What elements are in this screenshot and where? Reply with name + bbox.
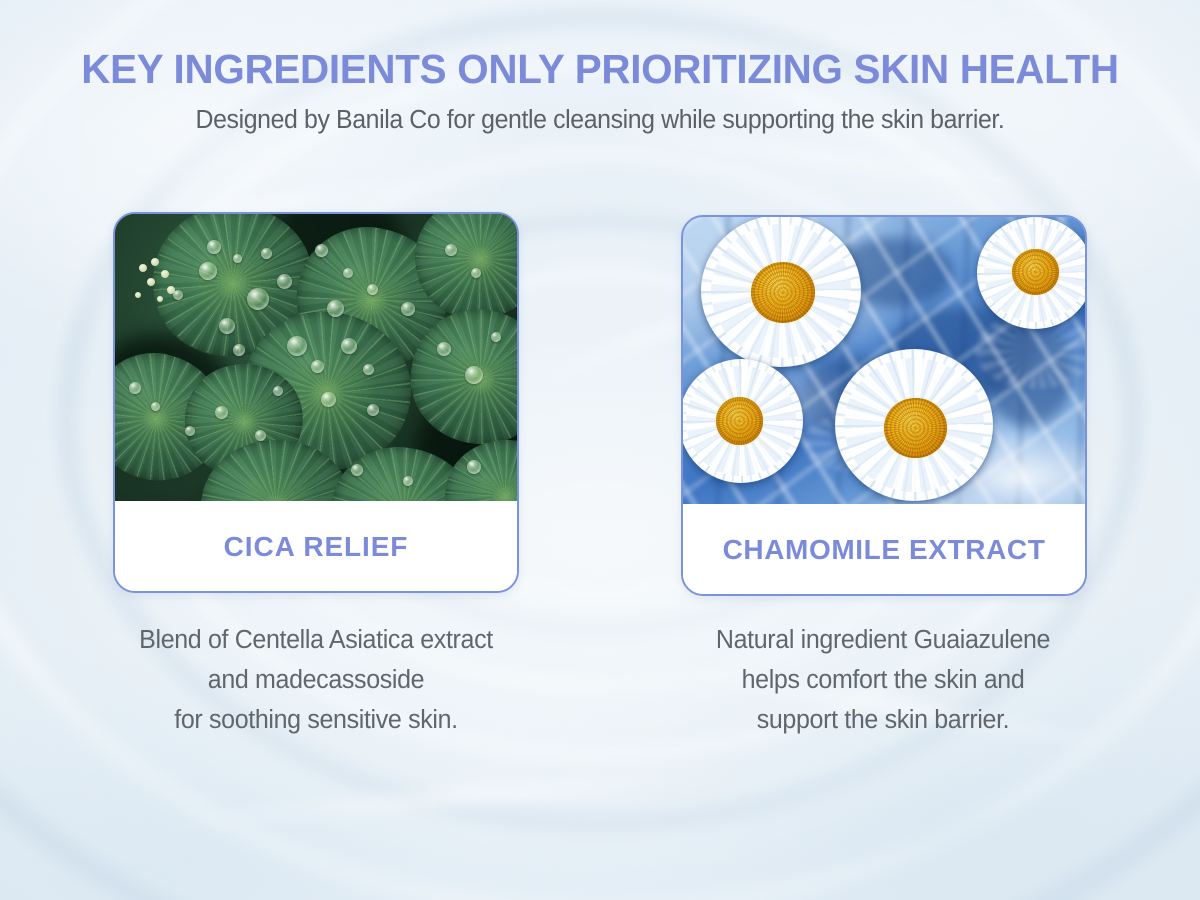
cica-relief-label-area: CICA RELIEF [115, 501, 517, 593]
card-label: CICA RELIEF [224, 531, 409, 563]
chamomile-water-illustration [683, 217, 1085, 504]
centella-leaves-illustration [115, 214, 517, 501]
ingredient-card-chamomile-extract[interactable]: CHAMOMILE EXTRACT [681, 215, 1087, 596]
caption-cica-relief: Blend of Centella Asiatica extract and m… [61, 620, 571, 740]
page-subtitle: Designed by Banila Co for gentle cleansi… [15, 106, 1185, 135]
chamomile-flower [977, 217, 1085, 329]
ingredient-highlight-banner: KEY INGREDIENTS ONLY PRIORITIZING SKIN H… [0, 0, 1200, 900]
page-title: KEY INGREDIENTS ONLY PRIORITIZING SKIN H… [9, 46, 1191, 93]
caption-line: support the skin barrier. [633, 700, 1133, 740]
chamomile-flower [683, 359, 803, 483]
banner-header: KEY INGREDIENTS ONLY PRIORITIZING SKIN H… [0, 0, 1200, 135]
ingredient-card-cica-relief[interactable]: CICA RELIEF [113, 212, 519, 593]
caption-line: Blend of Centella Asiatica extract [61, 620, 571, 660]
caption-chamomile-extract: Natural ingredient Guaiazulene helps com… [633, 620, 1133, 740]
caption-line: helps comfort the skin and [633, 660, 1133, 700]
caption-line: for soothing sensitive skin. [61, 700, 571, 740]
chamomile-extract-label-area: CHAMOMILE EXTRACT [683, 504, 1085, 596]
chamomile-extract-image [683, 217, 1085, 504]
ingredient-card-row: CICA RELIEF [0, 212, 1200, 594]
chamomile-flower [835, 349, 993, 501]
chamomile-flower [701, 217, 861, 367]
caption-line: and madecassoside [61, 660, 571, 700]
card-label: CHAMOMILE EXTRACT [723, 534, 1046, 566]
cica-relief-image [115, 214, 517, 501]
caption-line: Natural ingredient Guaiazulene [633, 620, 1133, 660]
